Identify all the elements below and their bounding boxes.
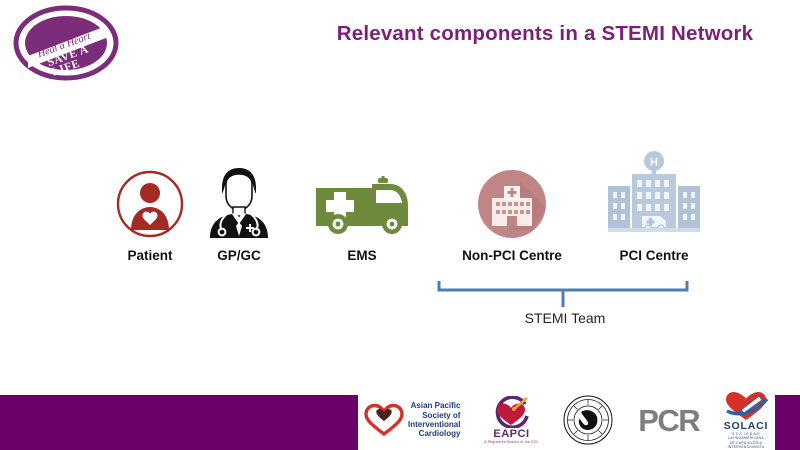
- component-ems[interactable]: EMS: [296, 150, 428, 263]
- stemi-team-label: STEMI Team: [450, 310, 680, 326]
- eapci-subtitle: A Registered Branch of the ESC: [484, 440, 538, 445]
- page-title: Relevant components in a STEMI Network: [300, 22, 790, 46]
- component-label-pci-centre: PCI Centre: [572, 248, 736, 263]
- apsic-logo: Asian Pacific Society of Interventional …: [364, 401, 460, 439]
- pcr-logo: PCR: [638, 405, 699, 436]
- component-label-non-pci-centre: Non-PCI Centre: [452, 248, 572, 263]
- cardiology-seal-icon: [562, 394, 614, 446]
- component-row: Patient: [0, 150, 800, 290]
- stent-heal-a-heart-logo: STENT Heal a Heart SAVE A LIFE: [12, 4, 120, 82]
- component-patient[interactable]: Patient: [104, 150, 196, 263]
- society-of-cardiology-seal-logo: [562, 394, 614, 446]
- apsic-line-2: Society of: [408, 411, 460, 420]
- gp-gc-art: [196, 150, 282, 240]
- ambulance-icon: [312, 176, 412, 240]
- apsic-wordmark: Asian Pacific Society of Interventional …: [408, 401, 460, 439]
- apsic-line-1: Asian Pacific: [408, 401, 460, 410]
- apsic-heart-icon: [364, 403, 404, 437]
- component-gp-gc[interactable]: GP/GC: [196, 150, 282, 263]
- apsic-line-3: Interventional: [408, 420, 460, 429]
- pci-art: H: [572, 150, 736, 240]
- component-label-ems: EMS: [296, 248, 428, 263]
- stemi-team-bracket: [436, 278, 690, 310]
- hospital-circle-icon: [476, 168, 548, 240]
- hospital-complex-icon: H: [602, 150, 706, 240]
- doctor-icon: [208, 164, 270, 240]
- solaci-wordmark: SOLACI: [724, 421, 768, 432]
- footer-logos: Asian Pacific Society of Interventional …: [358, 390, 775, 450]
- non-pci-art: [452, 150, 572, 240]
- apsic-line-4: Cardiology: [408, 429, 460, 438]
- component-pci-centre[interactable]: H: [572, 150, 736, 263]
- eapci-logo: EAPCI A Registered Branch of the ESC: [484, 396, 538, 445]
- ems-art: [296, 150, 428, 240]
- solaci-logo: SOLACI S O C I E D A D LATINOAMERICANA D…: [723, 391, 769, 450]
- patient-circle-icon: [114, 168, 186, 240]
- component-non-pci-centre[interactable]: Non-PCI Centre: [452, 150, 572, 263]
- logo-artwork: STENT Heal a Heart SAVE A LIFE: [12, 4, 120, 82]
- slide-canvas: STENT Heal a Heart SAVE A LIFE Relevant …: [0, 0, 800, 450]
- patient-art: [104, 150, 196, 240]
- component-label-gp-gc: GP/GC: [196, 248, 282, 263]
- eapci-heart-circle-icon: [489, 396, 533, 428]
- solaci-sub-4: INTERVENCIONISTA: [728, 445, 765, 449]
- component-label-patient: Patient: [104, 248, 196, 263]
- hospital-h-letter: H: [650, 157, 658, 169]
- solaci-heart-icon: [723, 391, 769, 421]
- bracket-icon: [436, 278, 690, 310]
- eapci-wordmark: EAPCI: [493, 428, 529, 440]
- pcr-wordmark: PCR: [638, 405, 699, 436]
